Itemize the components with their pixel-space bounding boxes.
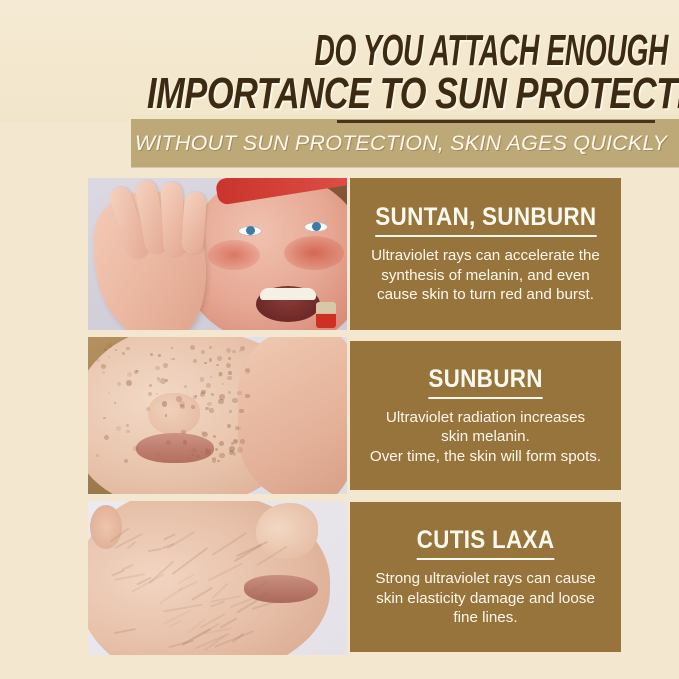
sun-spot	[209, 346, 212, 349]
sun-spot	[157, 377, 161, 381]
card-body-line: skin elasticity damage and loose	[362, 589, 609, 608]
infographic-poster: DO YOU ATTACH ENOUGH IMPORTANCE TO SUN P…	[0, 0, 679, 679]
cheek-redness-right	[284, 236, 344, 270]
sun-spot	[237, 447, 243, 453]
headline-underline-rule	[337, 120, 655, 123]
sun-spot	[200, 377, 205, 382]
sun-spot	[205, 452, 210, 457]
teeth	[260, 288, 316, 300]
sun-spot	[219, 453, 225, 459]
sun-spot	[213, 435, 217, 439]
sun-spot	[103, 417, 106, 420]
card-body-cutis-laxa: Strong ultraviolet rays can cause skin e…	[362, 569, 609, 627]
card-body-sunburn: Ultraviolet radiation increases skin mel…	[362, 408, 609, 466]
sun-spots-layer	[88, 337, 347, 494]
sun-spot	[96, 454, 99, 457]
info-card-cutis-laxa: CUTIS LAXA Strong ultraviolet rays can c…	[88, 501, 621, 655]
sun-spot	[227, 424, 231, 428]
sun-spot	[150, 353, 153, 356]
sun-spot	[209, 358, 212, 361]
sun-spot	[104, 435, 109, 440]
sun-spot	[228, 357, 231, 360]
sun-spot	[108, 392, 111, 395]
sun-spot	[232, 350, 236, 354]
sun-spot	[226, 348, 231, 353]
sun-spot	[183, 440, 188, 445]
card-photo-cutis-laxa	[88, 501, 347, 655]
card-panel-cutis-laxa: CUTIS LAXA Strong ultraviolet rays can c…	[350, 502, 621, 652]
fine-line	[148, 548, 162, 552]
sun-spot	[207, 402, 212, 407]
sun-spot	[228, 391, 231, 394]
sun-spot	[196, 454, 200, 458]
photo-illustration-sagging-jawline	[88, 501, 347, 655]
sun-spot	[163, 363, 168, 368]
sun-spot	[187, 457, 190, 460]
sun-spot	[114, 402, 116, 404]
photo-illustration-spotted-cheek	[88, 337, 347, 494]
sun-spot	[191, 448, 197, 454]
card-photo-sunburn	[88, 337, 347, 494]
sun-spot	[210, 376, 212, 378]
sun-spot	[193, 359, 197, 363]
sun-spot	[205, 407, 208, 410]
sun-spot	[245, 368, 250, 373]
sun-spot	[228, 371, 232, 375]
sun-spot	[190, 345, 195, 350]
sun-spot	[126, 347, 130, 351]
fine-line	[111, 570, 125, 577]
sun-spot	[193, 395, 197, 399]
sun-spot	[217, 460, 220, 463]
fine-line	[220, 617, 238, 628]
sun-spot	[227, 376, 232, 381]
sun-spot	[146, 407, 151, 412]
sun-spot	[134, 370, 139, 375]
sun-spot	[165, 414, 168, 417]
sun-spot	[212, 458, 217, 463]
card-body-line: Over time, the skin will form spots.	[362, 447, 609, 466]
fine-line	[236, 541, 268, 557]
fine-line	[159, 587, 183, 604]
sun-spot	[229, 410, 232, 413]
card-body-line: cause skin to turn red and burst.	[362, 285, 609, 304]
pupil-right	[312, 222, 321, 231]
headline-line-1: DO YOU ATTACH ENOUGH	[241, 30, 668, 71]
sun-spot	[217, 356, 223, 362]
sun-spot	[117, 382, 121, 386]
sun-spot	[245, 394, 250, 399]
sun-spot	[211, 393, 214, 396]
sun-spot	[166, 440, 171, 445]
sun-spot	[127, 372, 132, 377]
earring	[316, 302, 336, 328]
sun-spot	[240, 439, 245, 444]
info-card-suntan-sunburn: SUNTAN, SUNBURN Ultraviolet rays can acc…	[88, 178, 621, 330]
card-body-line: synthesis of melanin, and even	[362, 266, 609, 285]
sun-spot	[201, 390, 206, 395]
fine-line	[208, 563, 243, 582]
sun-spot	[158, 354, 161, 357]
sun-spot	[101, 364, 106, 369]
sun-spot	[148, 392, 152, 396]
sun-spot	[108, 356, 110, 358]
card-body-line: skin melanin.	[362, 427, 609, 446]
sun-spot	[126, 380, 132, 386]
sun-spot	[231, 442, 234, 445]
fine-line	[256, 545, 287, 566]
sun-spot	[149, 384, 152, 387]
sun-spot	[184, 385, 187, 388]
card-body-line: Ultraviolet rays can accelerate the	[362, 246, 609, 265]
sun-spot	[204, 362, 207, 365]
poster-subtitle: WITHOUT SUN PROTECTION, SKIN AGES QUICKL…	[131, 131, 671, 156]
sun-spot	[124, 459, 128, 463]
sun-spot	[238, 427, 241, 430]
card-body-suntan-sunburn: Ultraviolet rays can accelerate the synt…	[362, 246, 609, 304]
sun-spot	[239, 409, 243, 413]
fine-line	[192, 587, 213, 601]
sun-spot	[122, 352, 125, 355]
sun-spot	[126, 430, 129, 433]
sun-spot	[156, 452, 161, 457]
sun-spot	[181, 430, 186, 435]
sun-spot	[201, 350, 206, 355]
sun-spot	[104, 348, 106, 350]
sun-spot	[209, 408, 214, 413]
sun-spot	[226, 363, 231, 368]
headline-line-2: IMPORTANCE TO SUN PROTECTION?	[147, 73, 668, 114]
photo-illustration-red-irritated-face	[88, 178, 347, 330]
sun-spot	[191, 405, 195, 409]
fine-line	[114, 573, 144, 580]
sun-spot	[155, 366, 159, 370]
sun-spot	[126, 424, 129, 427]
sun-spot	[107, 343, 112, 348]
sun-spot	[156, 393, 158, 395]
card-panel-suntan-sunburn: SUNTAN, SUNBURN Ultraviolet rays can acc…	[350, 178, 621, 330]
sun-spot	[171, 347, 173, 349]
sun-spot	[162, 401, 168, 407]
sun-spot	[158, 381, 160, 383]
poster-headline: DO YOU ATTACH ENOUGH IMPORTANCE TO SUN P…	[0, 30, 668, 115]
card-body-line: Strong ultraviolet rays can cause	[362, 569, 609, 588]
fine-lines-layer	[88, 501, 347, 655]
cheek-redness-left	[208, 240, 260, 270]
sun-spot	[165, 379, 168, 382]
sun-spot	[206, 383, 211, 388]
sun-spot	[218, 399, 223, 404]
sun-spot	[96, 359, 100, 363]
sun-spot	[200, 451, 203, 454]
fine-line	[163, 534, 175, 541]
sun-spot	[192, 454, 194, 456]
card-title-cutis-laxa: CUTIS LAXA	[417, 526, 555, 560]
sun-spot	[219, 441, 224, 446]
fine-line	[163, 603, 203, 612]
sun-spot	[176, 396, 182, 402]
fine-line	[114, 628, 136, 634]
pupil-left	[246, 226, 255, 235]
card-title-suntan-sunburn: SUNTAN, SUNBURN	[375, 203, 596, 237]
card-photo-suntan-sunburn	[88, 178, 347, 330]
sun-spot	[222, 383, 225, 386]
sun-spot	[216, 364, 218, 366]
info-card-sunburn: SUNBURN Ultraviolet radiation increases …	[88, 337, 621, 494]
sun-spot	[116, 426, 122, 432]
sun-spot	[172, 358, 175, 361]
card-body-line: Ultraviolet radiation increases	[362, 408, 609, 427]
fine-line	[149, 560, 175, 584]
finger-4	[181, 191, 207, 254]
sun-spot	[237, 391, 242, 396]
fine-line	[172, 547, 208, 575]
sun-spot	[102, 371, 105, 374]
sun-spot	[215, 448, 217, 450]
sun-spot	[218, 372, 224, 378]
sun-spot	[229, 446, 235, 452]
sun-spot	[232, 398, 238, 404]
sun-spot	[133, 446, 138, 451]
sun-spot	[115, 349, 117, 351]
card-body-line: fine lines.	[362, 608, 609, 627]
card-panel-sunburn: SUNBURN Ultraviolet radiation increases …	[350, 341, 621, 490]
card-title-sunburn: SUNBURN	[428, 365, 542, 399]
